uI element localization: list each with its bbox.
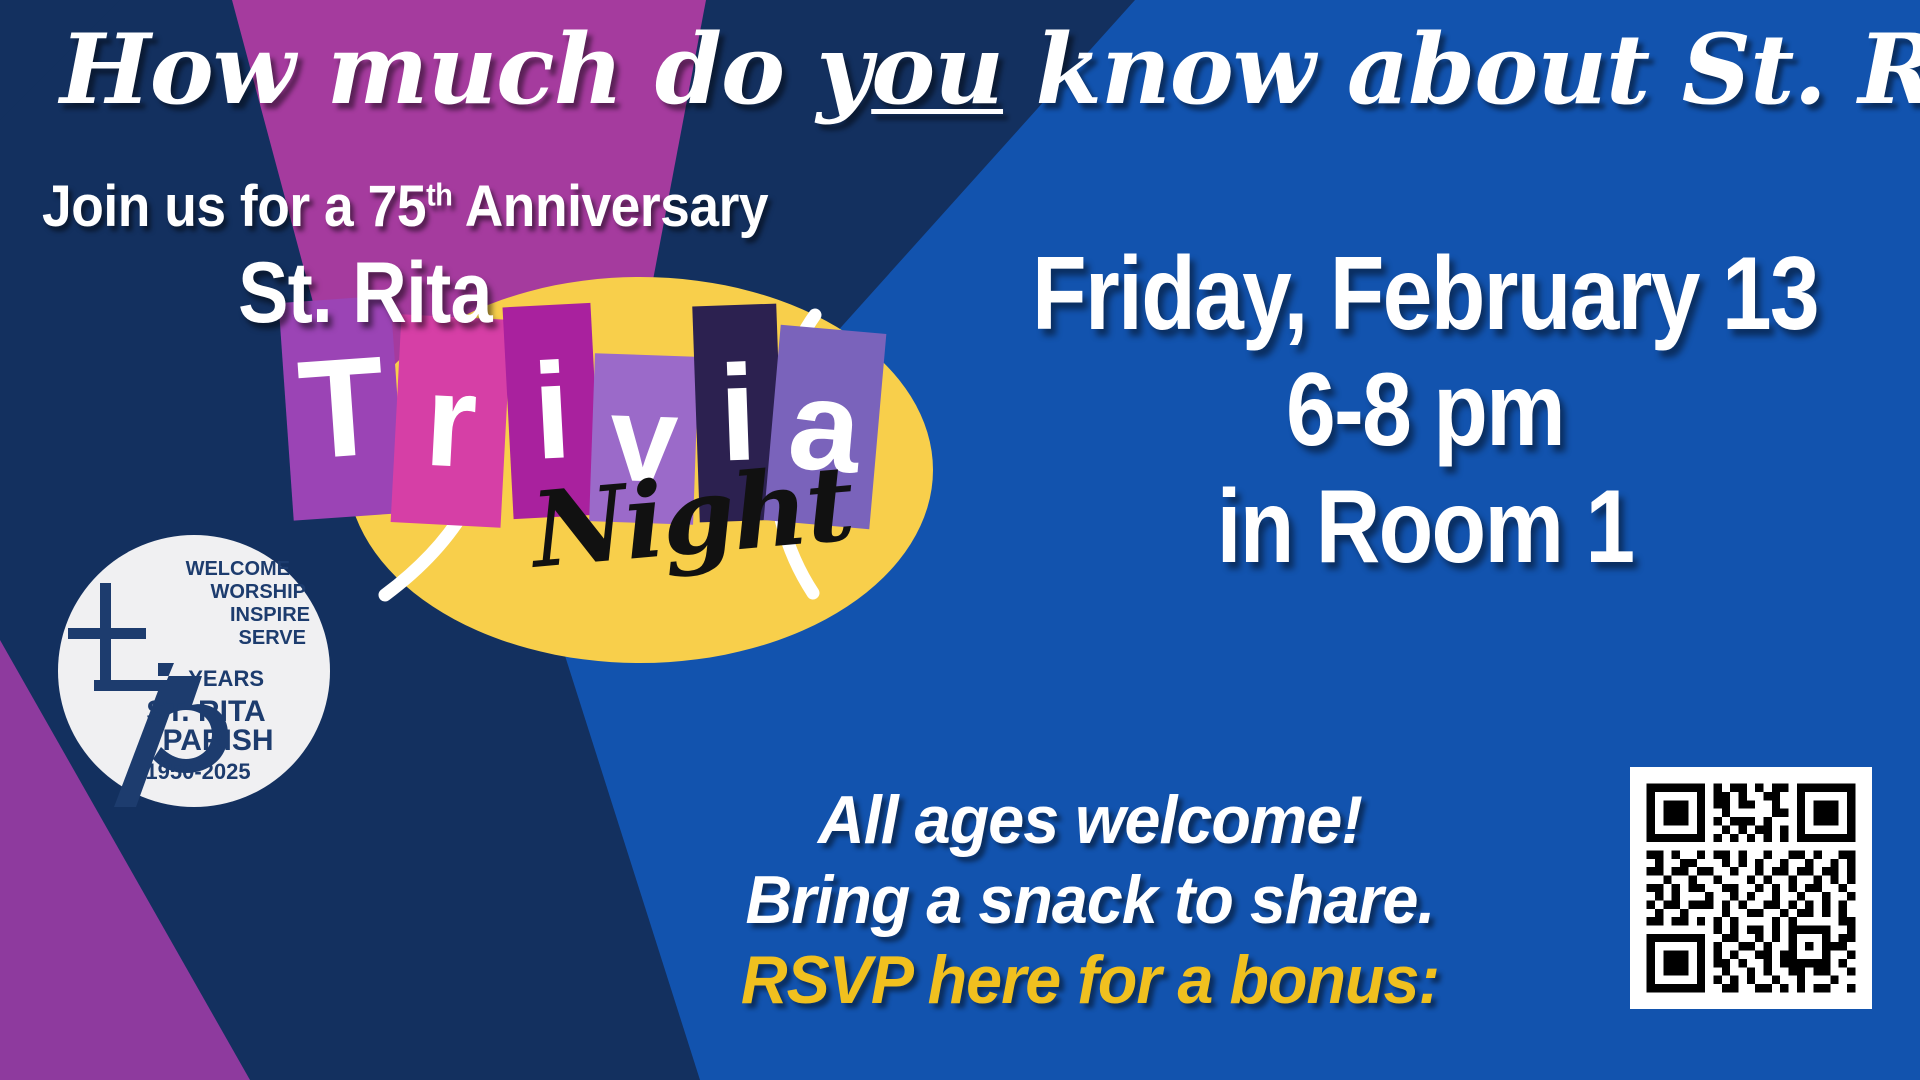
trivia-letter-2: r <box>422 354 480 489</box>
footer-line-rsvp: RSVP here for a bonus: <box>587 940 1594 1020</box>
footer-line-all-ages: All ages welcome! <box>587 780 1594 860</box>
footer-line-snack: Bring a snack to share. <box>587 860 1594 940</box>
cross-upright <box>100 583 111 683</box>
badge-svg: WELCOME WORSHIP INSPIRE SERVE YEARS ST. … <box>58 535 330 807</box>
page-title: How much do you know about St. Rita Chur… <box>60 22 1890 118</box>
footer-message: All ages welcome! Bring a snack to share… <box>560 780 1620 1021</box>
join-ordinal: th <box>426 178 452 213</box>
badge-years-label: YEARS <box>188 666 264 691</box>
event-time: 6-8 pm <box>1025 352 1825 468</box>
parish-name: St. Rita <box>238 250 492 336</box>
badge-value-serve: SERVE <box>239 627 306 649</box>
event-location: in Room 1 <box>1025 469 1825 585</box>
headline-part-1: How much do y <box>60 13 871 126</box>
join-prefix: Join us for a 75 <box>42 174 426 239</box>
anniversary-badge: WELCOME WORSHIP INSPIRE SERVE YEARS ST. … <box>58 535 330 807</box>
join-suffix: Anniversary <box>452 174 768 239</box>
trivia-night-flyer: How much do you know about St. Rita Chur… <box>0 0 1920 1080</box>
event-details: Friday, February 13 6-8 pm in Room 1 <box>960 236 1890 585</box>
trivia-letter-1: T <box>294 335 389 481</box>
event-date: Friday, February 13 <box>1025 236 1825 352</box>
headline-underlined-you: ou <box>871 13 1003 126</box>
badge-parish-line2: PARISH <box>162 724 273 757</box>
headline-part-2: know about St. Rita Church? <box>1003 13 1920 126</box>
badge-value-welcome: WELCOME <box>186 558 290 580</box>
qr-code[interactable] <box>1630 767 1872 1009</box>
badge-date-range: 1950-2025 <box>145 759 250 784</box>
trivia-tile-2: r <box>391 314 512 527</box>
anniversary-subtitle: Join us for a 75th Anniversary <box>42 178 768 236</box>
trivia-letter-3: i <box>530 342 575 480</box>
badge-value-worship: WORSHIP <box>210 581 306 603</box>
qr-code-svg[interactable] <box>1630 767 1872 1009</box>
badge-value-inspire: INSPIRE <box>230 604 310 626</box>
night-script-word: Night <box>527 451 856 583</box>
